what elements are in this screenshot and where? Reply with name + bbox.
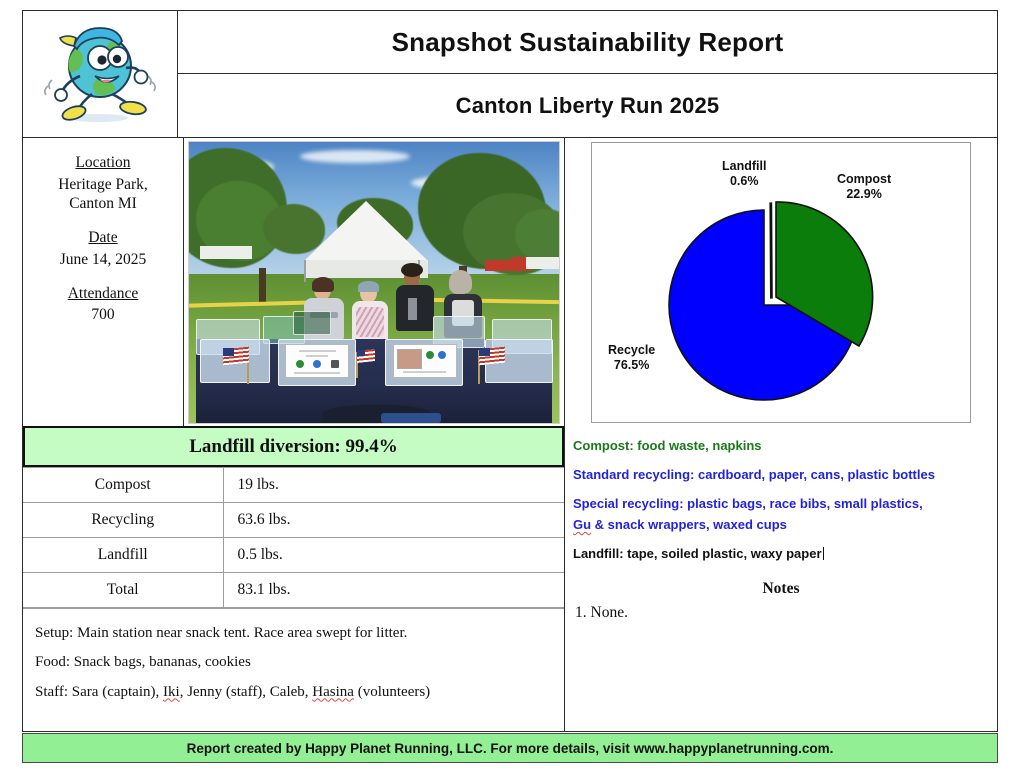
info-and-photo: Location Heritage Park, Canton MI Date J…	[23, 138, 564, 426]
staff-name-misspelled-2: Hasina	[312, 684, 354, 700]
page-title: Snapshot Sustainability Report	[392, 27, 784, 58]
operations-notes: Setup: Main station near snack tent. Rac…	[23, 608, 564, 731]
staff-note-pre: Staff: Sara (captain),	[35, 684, 163, 700]
landfill-diversion-banner: Landfill diversion: 99.4%	[23, 426, 564, 467]
notes-list: 1. None.	[565, 604, 997, 622]
staff-note: Staff: Sara (captain), Iki, Jenny (staff…	[35, 678, 552, 707]
setup-note: Setup: Main station near snack tent. Rac…	[35, 619, 552, 648]
stream-compost: Compost: food waste, napkins	[573, 435, 989, 456]
attendance-label: Attendance	[23, 285, 183, 304]
stream-landfill-text: Landfill: tape, soiled plastic, waxy pap…	[573, 546, 822, 561]
pie-label-landfill-value: 0.6%	[730, 174, 759, 188]
staff-note-post: (volunteers)	[354, 684, 430, 700]
stream-special-recycling: Special recycling: plastic bags, race bi…	[573, 493, 989, 535]
stream-landfill: Landfill: tape, soiled plastic, waxy pap…	[573, 543, 989, 564]
footer-text: Report created by Happy Planet Running, …	[187, 741, 834, 756]
right-column: Landfill 0.6% Compost 22.9% Recycle 76.5…	[565, 138, 997, 731]
pie-label-landfill: Landfill 0.6%	[722, 159, 766, 190]
row-label: Total	[23, 573, 223, 608]
pie-chart-frame: Landfill 0.6% Compost 22.9% Recycle 76.5…	[591, 142, 971, 423]
stream-special-misspelled: Gu	[573, 517, 591, 532]
event-waste-station-photo	[188, 141, 560, 424]
table-row: Compost 19 lbs.	[23, 468, 564, 503]
report-body: Location Heritage Park, Canton MI Date J…	[23, 138, 997, 731]
stream-special-line1: Special recycling: plastic bags, race bi…	[573, 496, 923, 511]
row-label: Compost	[23, 468, 223, 503]
text-cursor[interactable]	[823, 547, 824, 560]
stream-standard-recycling: Standard recycling: cardboard, paper, ca…	[573, 464, 989, 485]
weights-table: Compost 19 lbs. Recycling 63.6 lbs. Land…	[23, 467, 564, 608]
row-label: Landfill	[23, 538, 223, 573]
left-column: Location Heritage Park, Canton MI Date J…	[23, 138, 565, 731]
date-label: Date	[23, 229, 183, 248]
table-row: Recycling 63.6 lbs.	[23, 503, 564, 538]
row-value: 63.6 lbs.	[223, 503, 564, 538]
row-label: Recycling	[23, 503, 223, 538]
pie-slice-landfill	[770, 203, 772, 298]
table-row: Landfill 0.5 lbs.	[23, 538, 564, 573]
pie-label-recycle-name: Recycle	[608, 343, 655, 357]
date-value: June 14, 2025	[23, 251, 183, 270]
food-note: Food: Snack bags, bananas, cookies	[35, 648, 552, 677]
table-row: Total 83.1 lbs.	[23, 573, 564, 608]
landfill-diversion-text: Landfill diversion: 99.4%	[189, 436, 398, 458]
event-info-panel: Location Heritage Park, Canton MI Date J…	[23, 138, 184, 426]
pie-label-compost: Compost 22.9%	[837, 172, 891, 203]
staff-note-mid: , Jenny (staff), Caleb,	[180, 684, 313, 700]
waste-breakdown-pie-chart	[592, 143, 970, 422]
pie-label-compost-name: Compost	[837, 172, 891, 186]
pie-label-recycle: Recycle 76.5%	[608, 343, 655, 374]
stream-contents-list: Compost: food waste, napkins Standard re…	[565, 426, 997, 572]
event-title: Canton Liberty Run 2025	[456, 93, 720, 119]
logo-cell	[23, 11, 178, 137]
row-value: 83.1 lbs.	[223, 573, 564, 608]
header-titles: Snapshot Sustainability Report Canton Li…	[178, 11, 997, 137]
photo-cell	[184, 138, 564, 426]
location-value: Heritage Park, Canton MI	[23, 176, 183, 214]
report-page: Snapshot Sustainability Report Canton Li…	[0, 0, 1024, 777]
event-title-cell: Canton Liberty Run 2025	[178, 74, 997, 137]
waste-breakdown-chart-cell: Landfill 0.6% Compost 22.9% Recycle 76.5…	[565, 138, 997, 426]
stream-special-line2: & snack wrappers, waxed cups	[591, 517, 787, 532]
attendance-value: 700	[23, 306, 183, 325]
pie-label-landfill-name: Landfill	[722, 159, 766, 173]
report-title-cell: Snapshot Sustainability Report	[178, 11, 997, 74]
pie-label-recycle-value: 76.5%	[614, 358, 649, 372]
row-value: 19 lbs.	[223, 468, 564, 503]
report-footer: Report created by Happy Planet Running, …	[22, 733, 998, 763]
notes-heading: Notes	[565, 580, 997, 598]
bin-photo-sign	[393, 344, 457, 378]
row-value: 0.5 lbs.	[223, 538, 564, 573]
location-label: Location	[23, 154, 183, 173]
weights-table-body: Compost 19 lbs. Recycling 63.6 lbs. Land…	[23, 468, 564, 608]
running-globe-logo-icon	[40, 20, 160, 128]
staff-name-misspelled-1: Iki	[163, 684, 180, 700]
report-frame: Snapshot Sustainability Report Canton Li…	[22, 10, 998, 732]
all-waste-here-sign	[285, 344, 349, 378]
report-header: Snapshot Sustainability Report Canton Li…	[23, 11, 997, 138]
pie-label-compost-value: 22.9%	[846, 187, 881, 201]
list-item: 1. None.	[575, 604, 997, 622]
